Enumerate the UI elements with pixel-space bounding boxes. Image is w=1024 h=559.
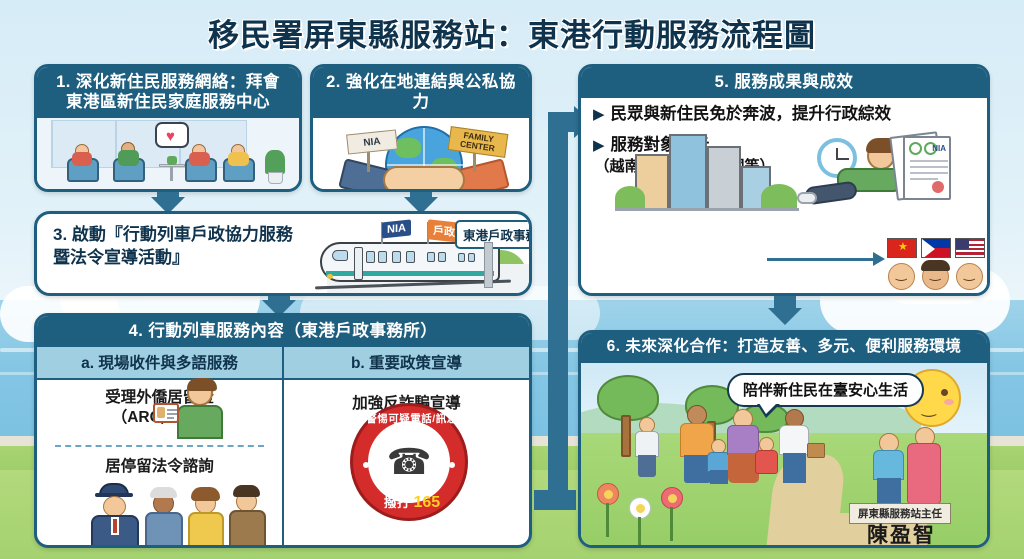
person-hair xyxy=(921,260,950,271)
person-legs xyxy=(783,453,806,483)
person-body xyxy=(189,152,210,166)
flower-center xyxy=(636,504,645,513)
child-body xyxy=(707,452,730,472)
step-4-column-b: b. 重要政策宣導 加強反詐騙宣導 警惕可疑電話/訊息 ☎ 撥打 165 xyxy=(282,347,529,548)
flower-center xyxy=(668,494,677,503)
person-head: ‿ xyxy=(187,380,213,406)
step-1-card: 1. 深化新住民服務網絡：拜會 東港區新住民家庭服務中心 ♥ xyxy=(34,64,302,192)
step-3-title: 3. 啟動『行動列車戶政協力服務 暨法令宣導活動』 xyxy=(53,224,343,270)
usa-stripe xyxy=(956,252,985,254)
arc-card-line xyxy=(167,417,174,419)
person-body xyxy=(72,152,92,166)
step-1-header-line-1: 1. 深化新住民服務網絡：拜會 xyxy=(45,72,291,92)
step-5-bullet-1: ▶ 民眾與新住民免於奔波，提升行政綜效 xyxy=(581,98,987,125)
bullet-marker-icon: ▶ xyxy=(593,136,605,156)
train-door xyxy=(354,247,363,280)
philippines-flag xyxy=(921,238,951,258)
flower-stem xyxy=(670,507,673,541)
child-dress xyxy=(755,450,778,474)
arc-card-line xyxy=(167,413,177,415)
person-body xyxy=(228,152,249,166)
tree-trunk xyxy=(621,415,631,457)
person-head xyxy=(687,405,707,425)
clock-hand-minute xyxy=(837,158,849,160)
signature-name: 陳盈智 xyxy=(867,519,936,548)
window-mullion xyxy=(51,120,53,168)
step-6-card: 6. 未來深化合作：打造友善、多元、便利服務環境 ‿ xyxy=(578,330,990,548)
step-4-header: 4. 行動列車服務內容（東港戶政事務所） xyxy=(37,316,529,347)
child-legs xyxy=(710,470,728,484)
usa-canton xyxy=(956,239,969,249)
person-body xyxy=(118,150,139,166)
bush-icon xyxy=(615,186,645,210)
step-1-illustration: ♥ xyxy=(37,118,299,192)
resident-hair xyxy=(150,487,177,498)
step-2-header: 2. 強化在地連結與公私協力 xyxy=(313,67,529,118)
vietnam-flag: ★ xyxy=(887,238,917,258)
badge-dot xyxy=(449,462,455,468)
sun-cheek xyxy=(944,399,954,405)
roadsign-post xyxy=(484,242,493,288)
document-line xyxy=(910,178,938,180)
anti-fraud-badge-bottom: 撥打 165 xyxy=(353,492,471,512)
step-4-column-b-header: b. 重要政策宣導 xyxy=(284,347,529,380)
step-2-illustration: NIA FAMILY CENTER xyxy=(313,118,529,192)
person-body xyxy=(873,450,904,480)
small-arrow-head xyxy=(873,252,885,266)
heart-speech-bubble: ♥ xyxy=(155,122,189,148)
table-leg xyxy=(170,167,173,181)
arc-card-line xyxy=(167,409,177,411)
roadsign-donggang-office: 東港戶政事務所 xyxy=(455,220,532,249)
bullet-marker-icon: ▶ xyxy=(593,105,605,125)
flag-nia: NIA xyxy=(382,219,411,238)
arc-card-photo xyxy=(157,407,165,418)
step-1-header-line-2: 東港區新住民家庭服務中心 xyxy=(45,92,291,112)
person-face-icon xyxy=(922,263,949,290)
bush-icon xyxy=(761,184,797,210)
building-icon xyxy=(669,134,707,210)
resident-body xyxy=(188,512,224,548)
document-line xyxy=(910,166,948,168)
step-4-column-a-item-2: 居停留法令諮詢 xyxy=(37,449,282,479)
arrow-step5-to-step6-head xyxy=(768,308,802,325)
train-window xyxy=(427,252,435,262)
hotline-number: 165 xyxy=(413,494,440,511)
person-body xyxy=(635,431,659,457)
plant-leaves xyxy=(265,150,285,174)
train-window xyxy=(378,251,387,263)
flower-stem xyxy=(606,503,609,537)
sun-smile: ‿ xyxy=(922,398,936,418)
step-4-card: 4. 行動列車服務內容（東港戶政事務所） a. 現場收件與多語服務 受理外僑居留… xyxy=(34,313,532,548)
resident-body xyxy=(145,512,183,548)
person-hair xyxy=(187,378,217,391)
step-5-header: 5. 服務成果與成效 xyxy=(581,67,987,98)
vietnam-star-icon: ★ xyxy=(898,242,908,253)
flower-icon xyxy=(629,497,651,519)
potted-plant-icon xyxy=(167,156,177,165)
train-window xyxy=(468,253,475,262)
step-3-title-line-1: 3. 啟動『行動列車戶政協力服務 xyxy=(53,224,343,247)
phone-icon: ☎ xyxy=(368,421,450,503)
train-window xyxy=(458,253,465,262)
step-3-title-line-2: 暨法令宣導活動』 xyxy=(53,247,343,270)
step-4-column-a-header: a. 現場收件與多語服務 xyxy=(37,347,282,380)
page-title: 移民署屏東縣服務站：東港行動服務流程圖 xyxy=(0,10,1024,55)
flower-stem xyxy=(638,517,641,547)
dial-label: 撥打 xyxy=(384,495,410,510)
train-headlight xyxy=(327,274,333,279)
train-window xyxy=(438,252,446,262)
train-windshield xyxy=(332,250,348,261)
usa-flag xyxy=(955,238,985,258)
shoe-icon xyxy=(797,192,817,204)
train-window xyxy=(406,251,415,263)
officer-head xyxy=(103,496,126,517)
train-stripe xyxy=(326,271,494,276)
resident-hair xyxy=(233,485,260,497)
document-stamp xyxy=(932,181,944,193)
step-2-card: 2. 強化在地連結與公私協力 NIA FAMILY CENTER xyxy=(310,64,532,192)
arrow-segment-vertical xyxy=(548,112,568,500)
person-body xyxy=(177,405,223,439)
person-legs xyxy=(638,455,656,477)
person-body xyxy=(779,425,809,455)
globe-landmass xyxy=(395,138,421,158)
step-5-bullet-1-text: 民眾與新住民免於奔波，提升行政綜效 xyxy=(611,104,892,125)
step-6-header: 6. 未來深化合作：打造友善、多元、便利服務環境 xyxy=(581,333,987,363)
step-3-card: 3. 啟動『行動列車戶政協力服務 暨法令宣導活動』 xyxy=(34,211,532,296)
document-line xyxy=(910,160,948,162)
person-body xyxy=(727,425,759,455)
infographic-canvas: 移民署屏東縣服務站：東港行動服務流程圖 1. 深化新住民服務網絡：拜會 東港區新… xyxy=(0,0,1024,559)
step-4-column-a: a. 現場收件與多語服務 受理外僑居留證 （ARC）申辦 ‿ xyxy=(37,347,282,548)
flower-icon xyxy=(597,483,619,505)
document-seal xyxy=(909,142,922,155)
building-icon xyxy=(707,146,741,210)
heart-icon: ♥ xyxy=(166,128,175,145)
document-line xyxy=(910,172,948,174)
plant-pot xyxy=(268,172,283,184)
resident-body xyxy=(229,510,266,548)
step-5-body: ▶ 民眾與新住民免於奔波，提升行政綜效 ‿ xyxy=(581,98,987,296)
ground-line xyxy=(615,208,799,211)
sun-eye xyxy=(941,389,948,396)
document-icon: NIA xyxy=(903,136,951,200)
ph-white-triangle xyxy=(922,239,935,258)
handbag-icon xyxy=(807,443,825,458)
flower-icon xyxy=(661,487,683,509)
speech-bubble-message: 陪伴新住民在臺安心生活 xyxy=(727,373,924,407)
document-nia-label: NIA xyxy=(932,144,946,153)
usa-stripe xyxy=(956,257,985,258)
arc-card-icon xyxy=(153,403,179,423)
handshake-icon xyxy=(383,166,465,192)
train-window xyxy=(392,251,401,263)
resident-hair xyxy=(191,487,220,501)
flower-center xyxy=(604,490,613,499)
column-a-divider xyxy=(55,445,264,447)
anti-fraud-badge-arc-text: 警惕可疑電話/訊息 xyxy=(353,411,471,426)
person-legs xyxy=(877,478,901,506)
step-5-card: 5. 服務成果與成效 ▶ 民眾與新住民免於奔波，提升行政綜效 ‿ xyxy=(578,64,990,296)
person-face-icon xyxy=(956,263,983,290)
anti-fraud-badge: 警惕可疑電話/訊息 ☎ 撥打 165 xyxy=(350,403,468,521)
person-face-icon xyxy=(888,263,915,290)
train-window xyxy=(366,251,375,263)
step-1-header: 1. 深化新住民服務網絡：拜會 東港區新住民家庭服務中心 xyxy=(37,67,299,118)
officer-tie xyxy=(113,519,117,533)
small-arrow-line xyxy=(767,258,875,261)
person-dress xyxy=(907,443,941,505)
step-6-illustration: ‿ 陪伴新住民在臺安心生活 xyxy=(581,363,987,548)
